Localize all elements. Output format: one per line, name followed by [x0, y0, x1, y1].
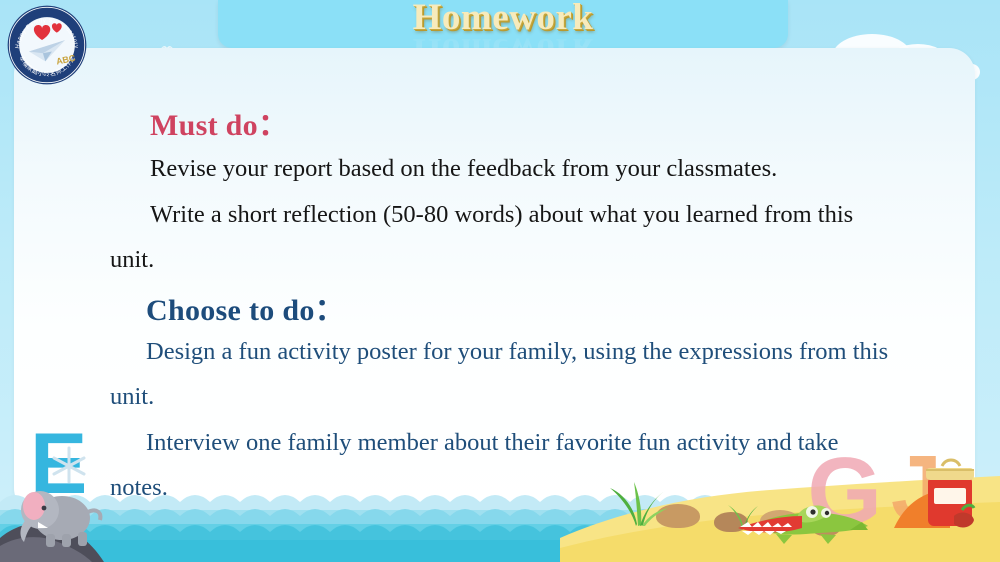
slide-canvas: Homework Homework Happy Family Successst…: [0, 0, 1000, 562]
sparkle-icon: [46, 446, 92, 486]
title-banner: Homework Homework: [218, 0, 788, 48]
elephant-icon: [14, 478, 106, 548]
bottom-scene: G J E: [0, 432, 1000, 562]
school-logo: Happy Family Successstory 幸福家庭小玲名师工作室 AB…: [6, 4, 88, 86]
must-do-heading: Must do：: [150, 100, 288, 144]
choose-to-do-heading: Choose to do：: [146, 285, 345, 329]
must-do-item-2: Write a short reflection (50-80 words) a…: [110, 192, 900, 282]
choose-to-do-item-1: Design a fun activity poster for your fa…: [110, 329, 910, 419]
grass-icon: [606, 480, 670, 526]
crocodile-icon: [680, 486, 870, 548]
page-title: Homework: [218, 0, 788, 39]
jam-jar-icon: [892, 454, 978, 534]
must-do-item-1: Revise your report based on the feedback…: [110, 146, 940, 191]
